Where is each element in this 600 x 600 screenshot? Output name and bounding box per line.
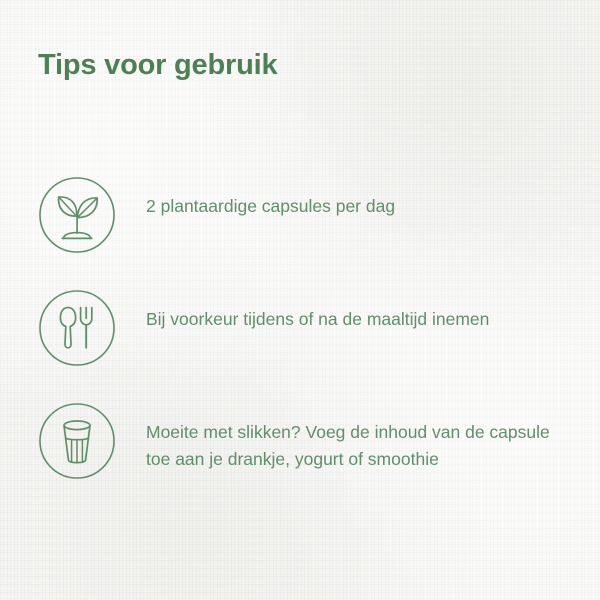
tips-card: Tips voor gebruik bbox=[0, 0, 600, 600]
list-item-label: Moeite met slikken? Voeg de inhoud van d… bbox=[146, 419, 566, 473]
drinking-glass-icon bbox=[38, 402, 116, 480]
list-item-label: 2 plantaardige capsules per dag bbox=[146, 193, 566, 220]
plant-sprout-icon bbox=[38, 176, 116, 254]
page-title: Tips voor gebruik bbox=[38, 49, 277, 82]
list-item-label: Bij voorkeur tijdens of na de maaltijd i… bbox=[146, 306, 566, 333]
card-content: Tips voor gebruik bbox=[0, 0, 600, 600]
tips-list: 2 plantaardige capsules per dag bbox=[38, 176, 568, 480]
list-item: Moeite met slikken? Voeg de inhoud van d… bbox=[38, 402, 568, 480]
list-item: Bij voorkeur tijdens of na de maaltijd i… bbox=[38, 289, 568, 367]
spoon-and-fork-icon bbox=[38, 289, 116, 367]
list-item: 2 plantaardige capsules per dag bbox=[38, 176, 568, 254]
